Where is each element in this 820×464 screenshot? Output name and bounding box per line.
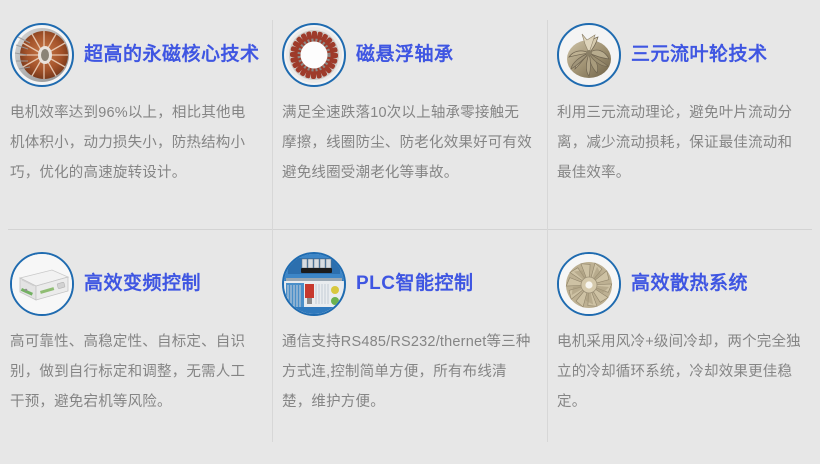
card-title: 高效变频控制 — [84, 273, 201, 296]
cooling-fan-wheel-icon — [557, 252, 621, 316]
feature-card-permanent-magnet-core[interactable]: 超高的永磁核心技术 电机效率达到96%以上，相比其他电机体积小，动力损失小，防热… — [0, 0, 272, 229]
card-title: PLC智能控制 — [356, 273, 474, 296]
card-title: 三元流叶轮技术 — [631, 44, 768, 67]
feature-card-plc-intelligent-control[interactable]: PLC智能控制 通信支持RS485/RS232/thernet等三种方式连,控制… — [272, 229, 547, 464]
card-body-text: 电机效率达到96%以上，相比其他电机体积小，动力损失小，防热结构小巧，优化的高速… — [10, 98, 258, 188]
card-header: 高效变频控制 — [10, 251, 258, 317]
card-header: 磁悬浮轴承 — [282, 22, 533, 88]
feature-card-high-efficiency-cooling[interactable]: 高效散热系统 电机采用风冷+级间冷却，两个完全独立的冷却循环系统，冷却效果更佳稳… — [547, 229, 820, 464]
card-body-text: 通信支持RS485/RS232/thernet等三种方式连,控制简单方便，所有布… — [282, 327, 533, 417]
card-header: 三元流叶轮技术 — [557, 22, 806, 88]
feature-grid: 超高的永磁核心技术 电机效率达到96%以上，相比其他电机体积小，动力损失小，防热… — [0, 0, 820, 464]
magnetic-bearing-coil-icon — [282, 23, 346, 87]
impeller-3d-icon — [557, 23, 621, 87]
card-body-text: 高可靠性、高稳定性、自标定、自识别，做到自行标定和调整，无需人工干预，避免宕机等… — [10, 327, 258, 417]
feature-card-high-efficiency-vfd-control[interactable]: 高效变频控制 高可靠性、高稳定性、自标定、自识别，做到自行标定和调整，无需人工干… — [0, 229, 272, 464]
card-title: 超高的永磁核心技术 — [84, 44, 260, 67]
controller-box-icon — [10, 252, 74, 316]
card-header: PLC智能控制 — [282, 251, 533, 317]
plc-cabinet-icon — [282, 252, 346, 316]
card-header: 超高的永磁核心技术 — [10, 22, 258, 88]
feature-card-magnetic-levitation-bearing[interactable]: 磁悬浮轴承 满足全速跌落10次以上轴承零接触无摩擦，线圈防尘、防老化效果好可有效… — [272, 0, 547, 229]
card-body-text: 电机采用风冷+级间冷却，两个完全独立的冷却循环系统，冷却效果更佳稳定。 — [557, 327, 805, 417]
motor-stator-rotor-icon — [10, 23, 74, 87]
card-title: 磁悬浮轴承 — [356, 44, 454, 67]
card-header: 高效散热系统 — [557, 251, 806, 317]
feature-card-ternary-flow-impeller[interactable]: 三元流叶轮技术 利用三元流动理论，避免叶片流动分离，减少流动损耗，保证最佳流动和… — [547, 0, 820, 229]
card-body-text: 利用三元流动理论，避免叶片流动分离，减少流动损耗，保证最佳流动和最佳效率。 — [557, 98, 805, 188]
card-title: 高效散热系统 — [631, 273, 748, 296]
card-body-text: 满足全速跌落10次以上轴承零接触无摩擦，线圈防尘、防老化效果好可有效避免线圈受潮… — [282, 98, 533, 188]
